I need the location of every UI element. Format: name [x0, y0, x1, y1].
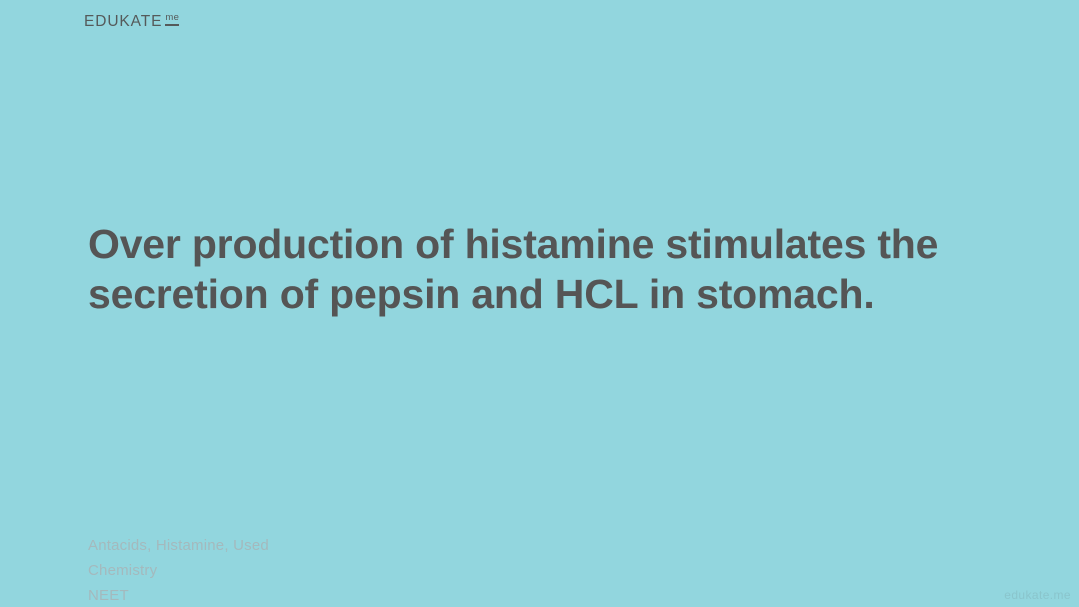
slide-canvas: EDUKATE me Over production of histamine …: [0, 0, 1079, 607]
brand-logo-underline-rule: [165, 24, 179, 26]
brand-logo[interactable]: EDUKATE me: [84, 14, 179, 30]
brand-logo-wordmark: EDUKATE: [84, 14, 162, 30]
brand-logo-superscript: me: [165, 13, 179, 26]
footer-line-subject: Chemistry: [88, 558, 608, 583]
corner-watermark: edukate.me: [1004, 589, 1071, 601]
slide-footer-meta: Antacids, Histamine, Used Chemistry NEET: [88, 533, 608, 607]
footer-line-tags: Antacids, Histamine, Used: [88, 533, 608, 558]
brand-logo-superscript-text: me: [165, 13, 179, 23]
slide-headline: Over production of histamine stimulates …: [88, 219, 1008, 319]
footer-line-exam: NEET: [88, 583, 608, 607]
